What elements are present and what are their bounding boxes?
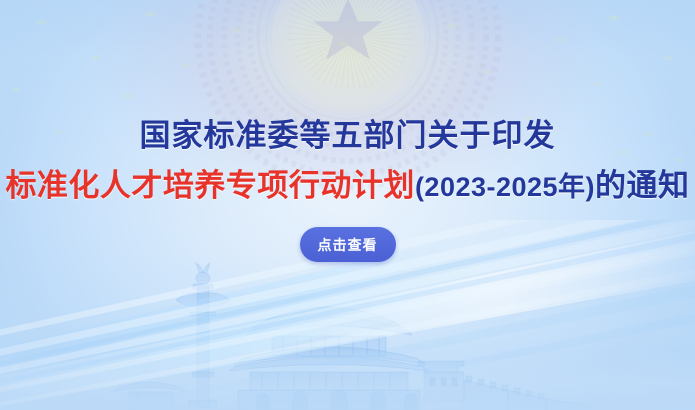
page-title-highlight: 标准化人才培养专项行动计划 — [5, 168, 415, 203]
policy-announcement-banner: 国家标准委等五部门关于印发 标准化人才培养专项行动计划(2023-2025年)的… — [0, 0, 695, 410]
cta-wrapper: 点击查看 — [300, 227, 396, 262]
view-details-button[interactable]: 点击查看 — [300, 227, 396, 262]
page-title-date-range: (2023-2025年) — [415, 172, 595, 202]
page-title-line-1: 国家标准委等五部门关于印发 — [140, 118, 556, 154]
banner-content: 国家标准委等五部门关于印发 标准化人才培养专项行动计划(2023-2025年)的… — [0, 0, 695, 410]
page-title-suffix: 的通知 — [595, 168, 690, 203]
page-title-line-2: 标准化人才培养专项行动计划(2023-2025年)的通知 — [5, 168, 689, 205]
